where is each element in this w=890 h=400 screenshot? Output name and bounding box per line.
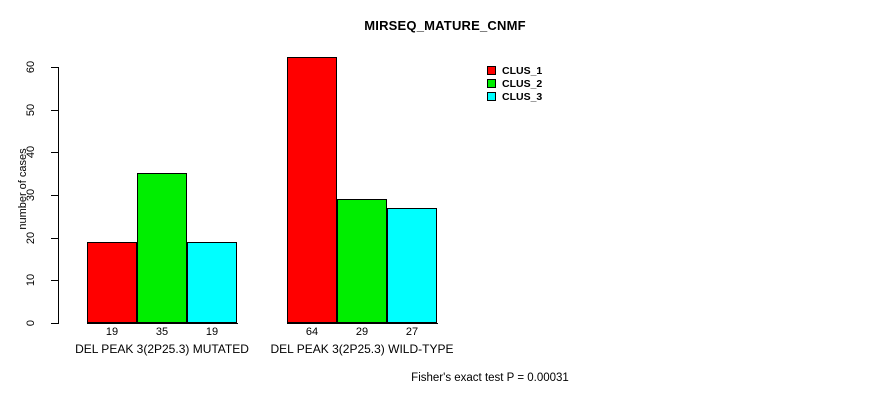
legend-item-clus2: CLUS_2 bbox=[487, 77, 542, 90]
y-tick-label: 30 bbox=[25, 178, 37, 212]
legend-item-clus3: CLUS_3 bbox=[487, 90, 542, 103]
statistical-test-note: Fisher's exact test P = 0.00031 bbox=[0, 372, 890, 384]
legend-label-clus3: CLUS_3 bbox=[502, 92, 542, 102]
bar-value-group2-clus2: 29 bbox=[337, 326, 387, 338]
bar-value-group1-clus3: 19 bbox=[187, 326, 237, 338]
legend-swatch-icon-clus1 bbox=[487, 66, 496, 75]
bar-group2-clus1 bbox=[287, 57, 337, 323]
y-tick-label: 60 bbox=[25, 50, 37, 84]
page-title: MIRSEQ_MATURE_CNMF bbox=[0, 18, 890, 33]
bar-value-group1-clus1: 19 bbox=[87, 326, 137, 338]
y-axis-line bbox=[58, 67, 59, 324]
bar-group1-clus1 bbox=[87, 242, 137, 323]
legend-label-clus2: CLUS_2 bbox=[502, 79, 542, 89]
bar-value-group2-clus3: 27 bbox=[387, 326, 437, 338]
statistical-test-text: Fisher's exact test P = 0.00031 bbox=[321, 372, 569, 384]
legend-label-clus1: CLUS_1 bbox=[502, 66, 542, 76]
bar-chart-plot: MIRSEQ_MATURE_CNMF number of cases 0 10 … bbox=[0, 0, 890, 400]
x-axis-line-group-2 bbox=[287, 323, 438, 324]
x-axis-line-group-1 bbox=[87, 323, 238, 324]
bar-group2-clus2 bbox=[337, 199, 387, 323]
y-tick-label: 0 bbox=[25, 306, 37, 340]
legend-swatch-icon-clus2 bbox=[487, 79, 496, 88]
bar-group2-clus3 bbox=[387, 208, 437, 323]
legend-item-clus1: CLUS_1 bbox=[487, 64, 542, 77]
legend-swatch-icon-clus3 bbox=[487, 92, 496, 101]
y-tick-label: 20 bbox=[25, 221, 37, 255]
legend: CLUS_1 CLUS_2 CLUS_3 bbox=[487, 64, 542, 103]
x-axis-group-label-2: DEL PEAK 3(2P25.3) WILD-TYPE bbox=[262, 342, 462, 356]
x-axis-group-label-1: DEL PEAK 3(2P25.3) MUTATED bbox=[62, 342, 262, 356]
y-tick-label: 50 bbox=[25, 93, 37, 127]
bar-value-group2-clus1: 64 bbox=[287, 326, 337, 338]
y-tick-label: 40 bbox=[25, 135, 37, 169]
bar-group1-clus2 bbox=[137, 173, 187, 323]
bar-group1-clus3 bbox=[187, 242, 237, 323]
bar-value-group1-clus2: 35 bbox=[137, 326, 187, 338]
y-tick-label: 10 bbox=[25, 263, 37, 297]
